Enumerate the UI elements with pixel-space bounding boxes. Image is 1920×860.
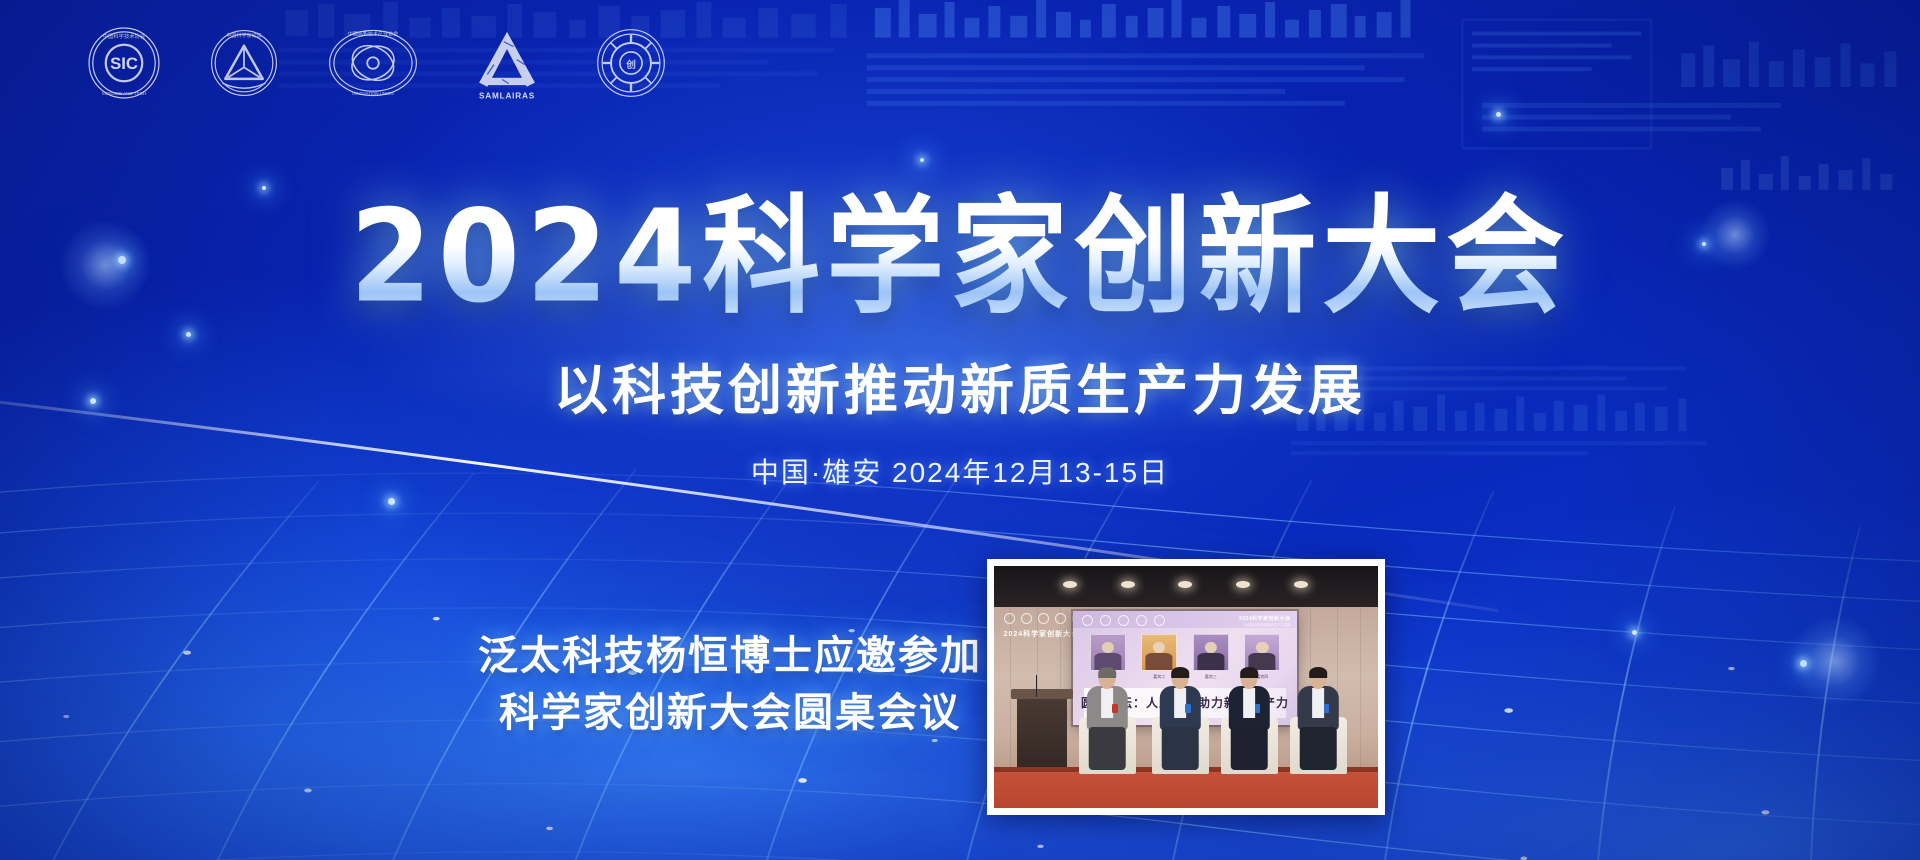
screen-subtitle: 以科技创新推动新质生产力发展 [1243, 622, 1290, 627]
photo-inner: 2024科学家创新大会 2024科学家创新大会 以科技创新推动新质生产力发展 [994, 566, 1378, 808]
panelist-badge [1324, 704, 1329, 714]
panelist-legs [1089, 727, 1126, 770]
conference-banner: SIC 中国科学技术协会 SCIENCE AND TECH 中国科学家论坛 [0, 0, 1920, 860]
panelist-hair [1098, 667, 1116, 679]
panelist-legs [1231, 727, 1268, 770]
page-subtitle: 以科技创新推动新质生产力发展 [0, 346, 1920, 425]
room-banner-icon [1055, 613, 1066, 624]
title-block: 2024科学家创新大会 以科技创新推动新质生产力发展 中国·雄安 2024年12… [0, 196, 1920, 491]
panelist-shirt [1101, 688, 1113, 718]
particle-dot [1496, 112, 1501, 117]
screen-icon [1082, 615, 1093, 626]
portrait-head [1256, 642, 1268, 654]
panel-discussion-photo: 2024科学家创新大会 2024科学家创新大会 以科技创新推动新质生产力发展 [987, 559, 1385, 815]
screen-icon [1100, 615, 1111, 626]
caption-line-2: 科学家创新大会圆桌会议 [470, 685, 990, 742]
portrait-image [1141, 634, 1177, 671]
panelist-hair [1171, 667, 1189, 679]
panelist-shirt [1243, 688, 1255, 718]
ceiling-light [1294, 581, 1308, 588]
portrait-head [1153, 642, 1165, 654]
svg-text:SCIENCE AND TECH: SCIENCE AND TECH [102, 91, 146, 96]
caption-block: 泛太科技杨恒博士应邀参加 科学家创新大会圆桌会议 [470, 628, 990, 742]
svg-text:中国高新技术产业协会: 中国高新技术产业协会 [348, 31, 398, 38]
sponsor-logo-row: SIC 中国科学技术协会 SCIENCE AND TECH 中国科学家论坛 [86, 22, 668, 104]
panelist-badge [1112, 704, 1117, 714]
particle-dot [920, 158, 924, 162]
panelist-1 [1075, 668, 1140, 774]
panelist-hair [1241, 667, 1259, 679]
ceiling-light [1063, 581, 1077, 588]
wall-seam [1359, 607, 1361, 772]
panelist-badge [1185, 704, 1190, 714]
logo-triangle-mark: SAMLAIRAS [466, 22, 548, 104]
panelist-legs [1300, 727, 1337, 770]
screen-icon [1118, 615, 1129, 626]
panelist-legs [1162, 727, 1199, 770]
logo-wordmark: SAMLAIRAS [479, 91, 535, 100]
panelist-hair [1310, 667, 1328, 679]
particle-dot [262, 186, 266, 190]
portrait-image [1244, 634, 1280, 671]
screen-icon [1136, 615, 1147, 626]
svg-text:中国科学技术协会: 中国科学技术协会 [103, 32, 146, 40]
svg-text:创: 创 [625, 59, 636, 71]
svg-text:SIC: SIC [110, 54, 138, 73]
logo-triangle-seal: 中国科学家论坛 [208, 27, 280, 99]
podium-top [1011, 689, 1072, 699]
panelist-3 [1217, 668, 1282, 774]
panelist-2 [1148, 668, 1213, 774]
particle-dot [1632, 630, 1637, 635]
logo-atom-seal: 中国高新技术产业协会 INNOVATION UNION [326, 26, 420, 100]
logo-sic-seal: SIC 中国科学技术协会 SCIENCE AND TECH [86, 25, 162, 101]
particle-dot [388, 498, 395, 505]
portrait-head [1102, 642, 1114, 654]
ceiling-light [1178, 581, 1192, 588]
room-banner-icons [1004, 613, 1083, 624]
event-meta: 中国·雄安 2024年12月13-15日 [0, 451, 1920, 491]
room-banner-icon [1004, 613, 1015, 624]
stage-floor [994, 772, 1378, 808]
logo-gear-seal: 创 [594, 26, 668, 100]
microphone-stand [1036, 675, 1037, 697]
portrait-image [1193, 634, 1229, 671]
panelist-4 [1286, 668, 1351, 774]
page-title: 2024科学家创新大会 [350, 191, 1570, 321]
caption-line-1: 泛太科技杨恒博士应邀参加 [470, 628, 990, 685]
panelist-shirt [1313, 688, 1325, 718]
screen-icon-row [1082, 615, 1165, 626]
screen-icon [1154, 615, 1165, 626]
room-banner-icon [1021, 613, 1032, 624]
portrait-head [1205, 642, 1217, 654]
svg-text:INNOVATION UNION: INNOVATION UNION [352, 91, 393, 96]
ceiling-light [1236, 581, 1250, 588]
svg-text:中国科学家论坛: 中国科学家论坛 [226, 32, 261, 39]
screen-title: 2024科学家创新大会 [1239, 615, 1291, 622]
portrait-image [1090, 634, 1126, 671]
panelist-badge [1255, 704, 1260, 714]
room-banner-text: 2024科学家创新大会 [1004, 629, 1080, 639]
panelist-shirt [1174, 688, 1186, 718]
ceiling-light [1121, 581, 1135, 588]
room-banner-icon [1038, 613, 1049, 624]
particle-halo [1790, 616, 1880, 706]
